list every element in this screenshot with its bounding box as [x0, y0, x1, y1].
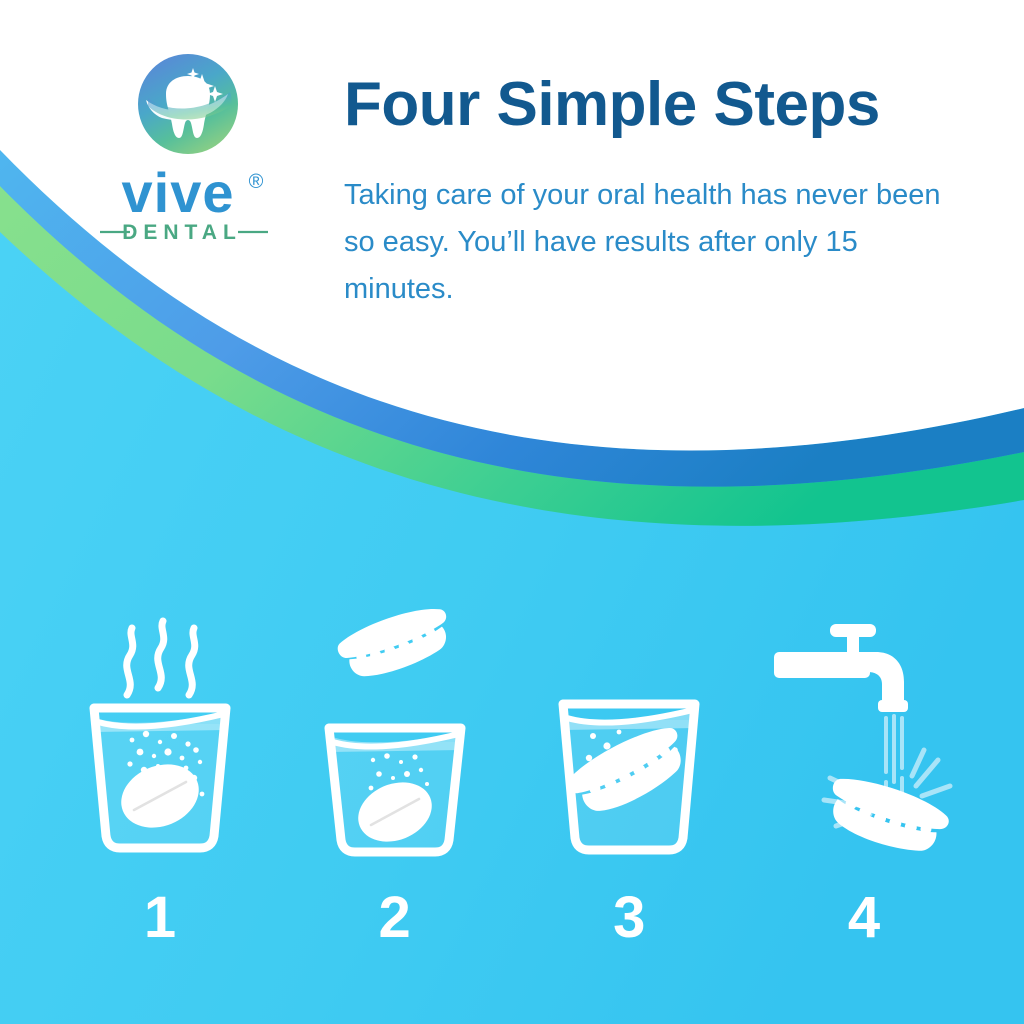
- page-subtitle: Taking care of your oral health has neve…: [344, 172, 969, 313]
- step-3: 3: [523, 600, 735, 1000]
- dentures: [333, 600, 458, 687]
- header: vive ® DENTAL Four Simple Steps Taking c…: [0, 0, 1024, 330]
- steps-row: 1: [0, 600, 1024, 1000]
- step-1: 1: [54, 600, 266, 1000]
- faucet-rinsing-dentures-icon: [758, 600, 970, 875]
- dentures-dropping-into-glass-icon: [289, 600, 501, 875]
- tagline-text: DENTAL: [122, 221, 242, 244]
- dentures-soaking-in-glass-icon: [523, 600, 735, 875]
- step-number: 2: [379, 889, 411, 947]
- brand-logo: vive ® DENTAL: [78, 52, 298, 246]
- steam-wisps: [127, 621, 195, 695]
- step-number: 3: [613, 889, 645, 947]
- faucet: [774, 624, 908, 712]
- page-title: Four Simple Steps: [344, 74, 880, 136]
- infographic-page: vive ® DENTAL Four Simple Steps Taking c…: [0, 0, 1024, 1024]
- glass-with-hot-water-and-tablet-icon: [54, 600, 266, 875]
- step-number: 1: [144, 889, 176, 947]
- wordmark-text: vive: [122, 161, 235, 224]
- brand-wordmark: vive ® DENTAL: [78, 160, 298, 246]
- step-4: 4: [758, 600, 970, 1000]
- registered-trademark-icon: ®: [249, 171, 264, 193]
- tooth-badge-icon: [136, 52, 240, 156]
- step-number: 4: [848, 889, 880, 947]
- step-2: 2: [289, 600, 501, 1000]
